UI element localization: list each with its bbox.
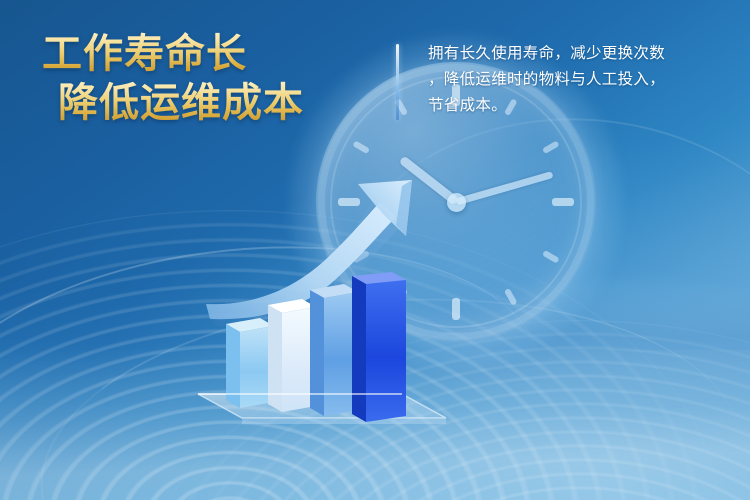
clock-tick-6	[453, 202, 459, 320]
light-swoosh-3	[297, 78, 750, 500]
clock-tick-7	[394, 201, 458, 306]
clock-minute-hand	[455, 171, 553, 205]
bar-3	[310, 284, 358, 416]
vertical-divider	[396, 44, 399, 120]
clock-tick-4	[455, 199, 560, 263]
water-ripple-icon	[0, 210, 720, 500]
clock-tick-10	[352, 140, 457, 204]
water-surface	[0, 290, 750, 500]
bar-1	[226, 318, 274, 408]
water-sheen	[0, 350, 750, 500]
clock-tick-2	[455, 140, 560, 204]
light-swoosh-2	[29, 276, 750, 500]
growth-arrow-icon	[200, 176, 450, 326]
description-text: 拥有长久使用寿命，减少更换次数 ，降低运维时的物料与人工投入， 节省成本。	[428, 40, 724, 118]
clock-tick-8	[352, 199, 457, 263]
clock-tick-5	[453, 201, 517, 306]
headline-line-2: 降低运维成本	[58, 79, 372, 128]
headline-line-1: 工作寿命长	[42, 30, 372, 79]
light-swoosh-1	[0, 213, 558, 500]
description-line-1: 拥有长久使用寿命，减少更换次数	[428, 40, 724, 66]
clock-center-cap	[447, 193, 466, 212]
clock-tick-9	[338, 199, 456, 205]
clock-hour-hand	[398, 155, 459, 205]
bar-4	[352, 272, 406, 422]
description-line-2: ，降低运维时的物料与人工投入，	[428, 66, 724, 92]
water-ripple-secondary-icon	[130, 320, 750, 500]
clock-tick-3	[456, 199, 574, 205]
page-title: 工作寿命长 降低运维成本	[42, 30, 372, 128]
bar-2	[268, 299, 316, 412]
promo-banner: 工作寿命长 降低运维成本 拥有长久使用寿命，减少更换次数 ，降低运维时的物料与人…	[0, 0, 750, 500]
bar-chart-3d	[196, 272, 466, 432]
description-line-3: 节省成本。	[428, 92, 724, 118]
